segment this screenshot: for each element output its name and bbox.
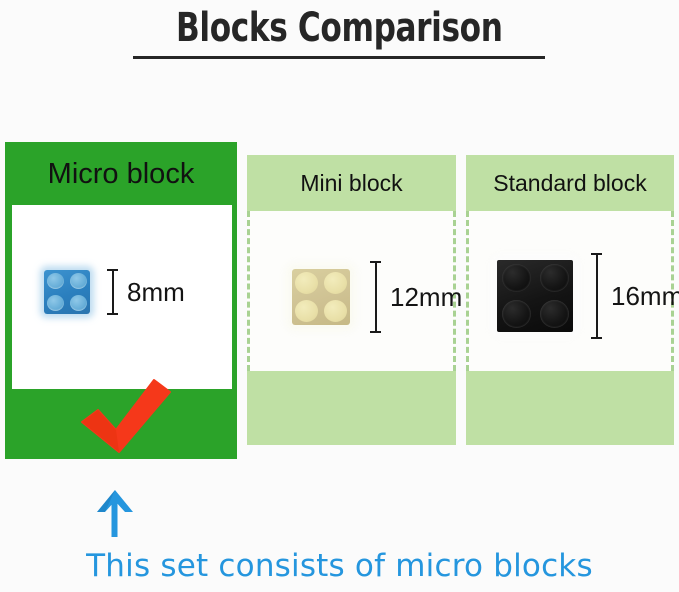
standard-block-measurement-row: 16mm xyxy=(497,253,679,339)
micro-dimension-indicator: 8mm xyxy=(107,269,185,315)
panel-micro-header: Micro block xyxy=(6,143,236,205)
mini-dimension-label: 12mm xyxy=(390,282,462,313)
check-icon xyxy=(78,378,174,454)
brick-stud xyxy=(70,273,87,289)
brick-stud xyxy=(324,300,347,322)
page-title: Blocks Comparison xyxy=(0,4,679,52)
brick-stud xyxy=(502,300,531,328)
panel-standard-block[interactable]: Standard block 16mm xyxy=(466,155,674,445)
dimension-cap-bottom xyxy=(591,337,602,339)
micro-brick-graphic xyxy=(44,270,90,314)
mini-block-measurement-row: 12mm xyxy=(292,261,462,333)
panel-standard-label: Standard block xyxy=(493,170,646,197)
brick-stud xyxy=(70,295,87,311)
page-title-text: Blocks Comparison xyxy=(176,4,502,52)
panel-mini-block[interactable]: Mini block 12mm xyxy=(247,155,456,445)
standard-dimension-label: 16mm xyxy=(611,281,679,312)
dimension-stem xyxy=(596,253,598,339)
dimension-bar-icon xyxy=(370,261,381,333)
comparison-infographic: Blocks Comparison Micro block xyxy=(0,0,679,592)
panel-mini-footer xyxy=(247,371,456,445)
brick-stud xyxy=(540,300,569,328)
panel-mini-label: Mini block xyxy=(300,170,402,197)
brick-stud xyxy=(47,295,64,311)
brick-stud xyxy=(295,272,318,294)
brick-stud xyxy=(295,300,318,322)
panel-mini-header: Mini block xyxy=(247,155,456,211)
panel-micro-label: Micro block xyxy=(48,158,195,191)
dimension-cap-top xyxy=(107,269,118,271)
dimension-cap-bottom xyxy=(107,313,118,315)
footer-caption-text: This set consists of micro blocks xyxy=(86,548,593,584)
brick-stud xyxy=(47,273,64,289)
panel-micro-body: 8mm xyxy=(12,205,232,389)
dimension-stem xyxy=(375,261,377,333)
mini-brick-graphic xyxy=(292,269,350,325)
arrow-up-icon xyxy=(92,488,138,538)
panel-mini-body: 12mm xyxy=(247,211,456,371)
micro-dimension-label: 8mm xyxy=(127,277,185,308)
dimension-cap-top xyxy=(370,261,381,263)
panel-standard-header: Standard block xyxy=(466,155,674,211)
micro-block-measurement-row: 8mm xyxy=(44,269,185,315)
brick-stud xyxy=(502,264,531,292)
panel-standard-body: 16mm xyxy=(466,211,674,371)
dimension-stem xyxy=(112,269,114,315)
dimension-cap-top xyxy=(591,253,602,255)
standard-dimension-indicator: 16mm xyxy=(591,253,679,339)
footer-caption: This set consists of micro blocks xyxy=(0,548,679,584)
mini-dimension-indicator: 12mm xyxy=(370,261,462,333)
dimension-cap-bottom xyxy=(370,331,381,333)
panel-standard-footer xyxy=(466,371,674,445)
title-underline-rule xyxy=(133,56,545,59)
brick-stud xyxy=(540,264,569,292)
standard-brick-graphic xyxy=(497,260,573,332)
dimension-bar-icon xyxy=(591,253,602,339)
dimension-bar-icon xyxy=(107,269,118,315)
brick-stud xyxy=(324,272,347,294)
